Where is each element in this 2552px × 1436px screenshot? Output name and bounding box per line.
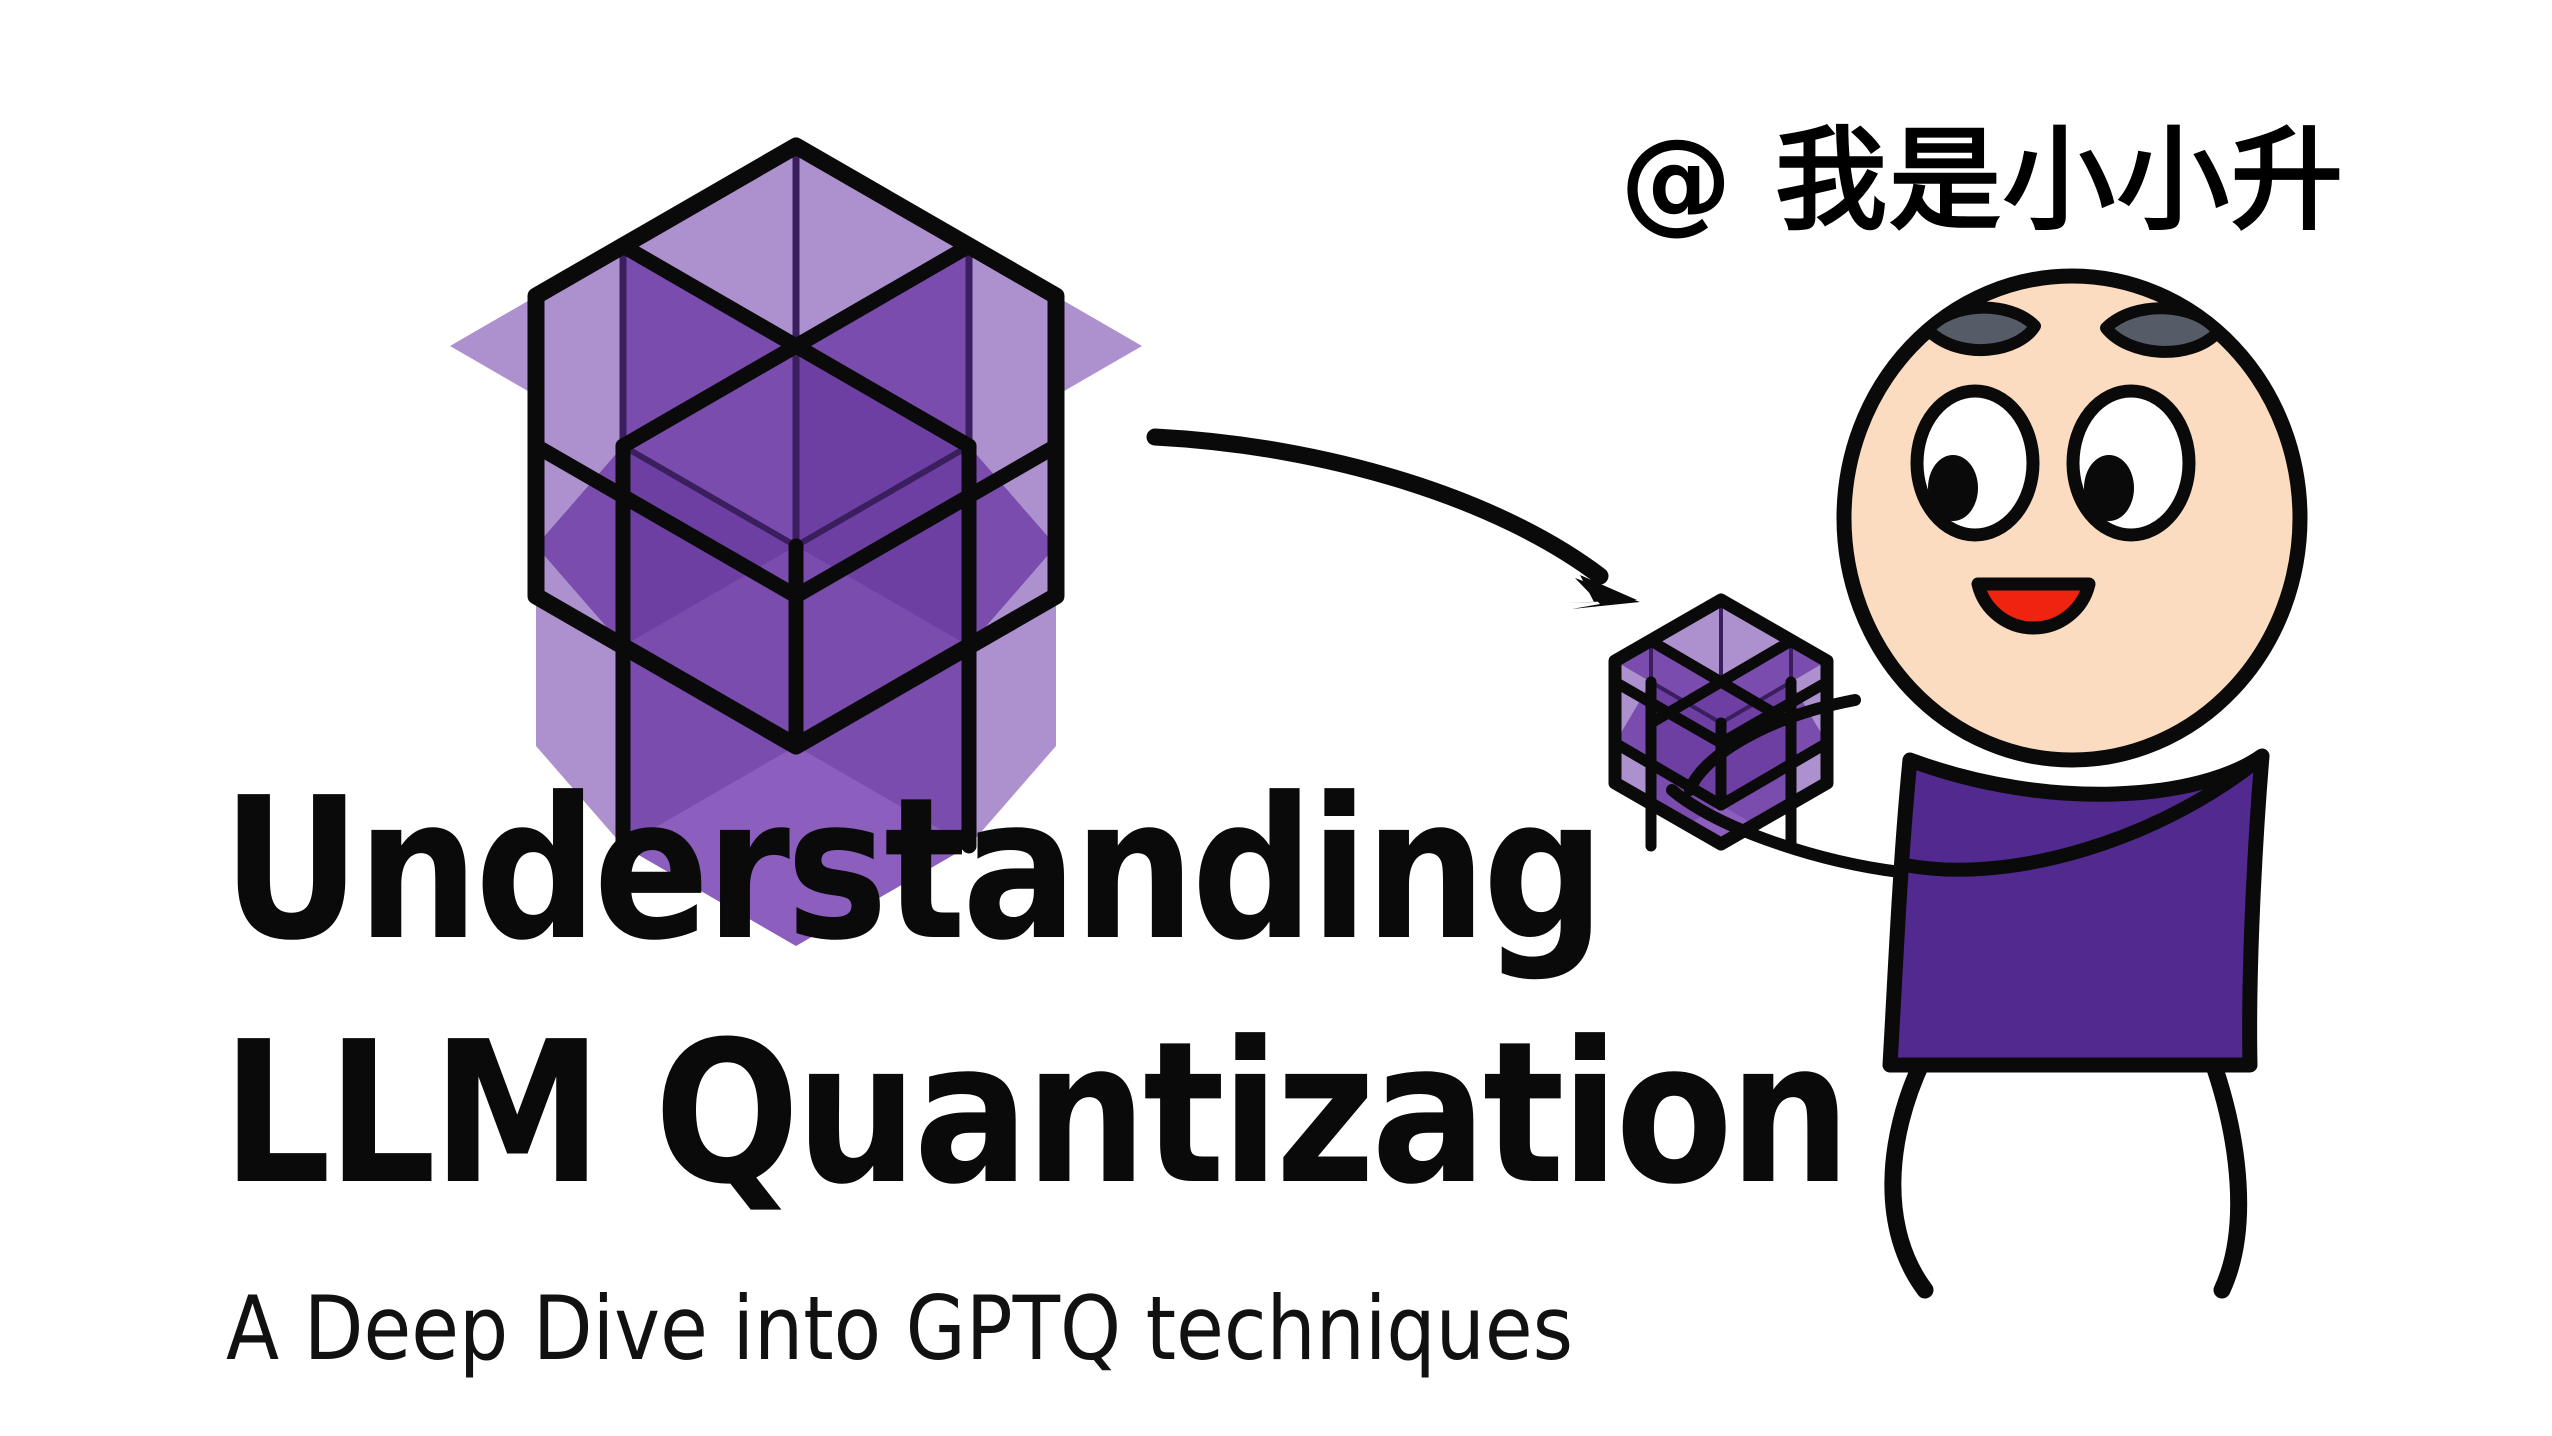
mascot-right-pupil xyxy=(2084,455,2134,521)
poster-canvas: @ 我是小小升 Understanding LLM Quantization A… xyxy=(0,0,2552,1436)
mascot-right-eyebrow xyxy=(2106,308,2218,352)
mascot-head xyxy=(1844,276,2300,760)
mascot-left-eyebrow xyxy=(1928,308,2035,350)
mascot-right-leg xyxy=(2212,1060,2239,1290)
mascot-left-leg xyxy=(1893,1060,1925,1290)
illustration-layer xyxy=(0,0,2552,1436)
mascot-left-pupil xyxy=(1928,455,1978,521)
small-quantized-cube xyxy=(1581,600,1861,887)
large-quantization-cube xyxy=(450,146,1142,946)
mascot-right-eye xyxy=(2073,391,2189,535)
mascot-left-eye xyxy=(1917,391,2033,535)
curved-arrow-icon xyxy=(1155,437,1640,609)
